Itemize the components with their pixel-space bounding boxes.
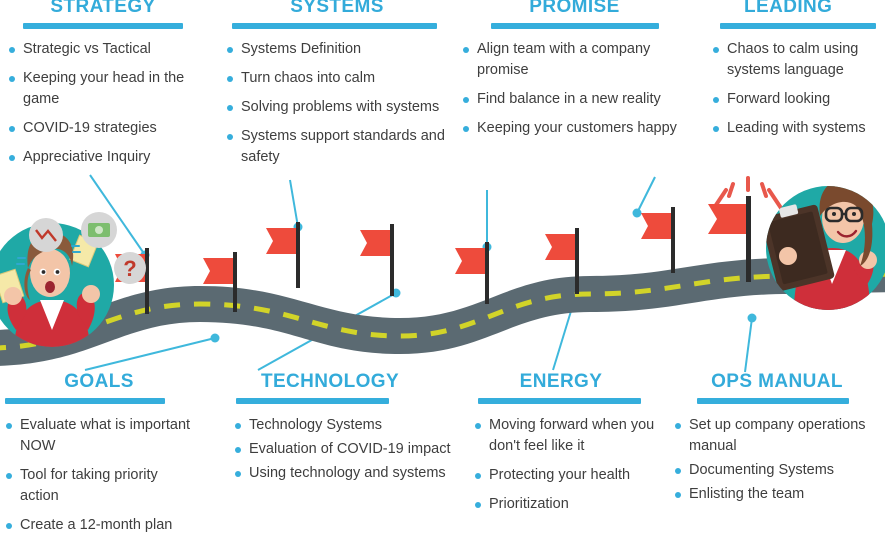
list-item: Evaluate what is important NOW xyxy=(5,415,193,457)
thought-bubble-question: ? xyxy=(114,252,146,284)
flag-3 xyxy=(266,222,300,288)
connector-technology xyxy=(258,293,396,370)
list-item: Set up company operations manual xyxy=(674,415,885,457)
column-strategy-title: STRATEGY xyxy=(8,0,198,18)
connector-dot-systems xyxy=(294,223,303,232)
infographic-canvas: ? xyxy=(0,0,885,555)
list-item: Create a 12-month plan xyxy=(5,515,193,536)
flag-8-finish xyxy=(708,196,751,282)
column-leading-title: LEADING xyxy=(712,0,885,18)
connector-dot-strategy xyxy=(141,251,150,260)
connector-dot-goals xyxy=(211,334,220,343)
list-item: Strategic vs Tactical xyxy=(8,39,198,60)
column-strategy: STRATEGY Strategic vs Tactical Keeping y… xyxy=(8,0,198,176)
connector-dot-energy xyxy=(571,294,580,303)
column-strategy-bullets: Strategic vs Tactical Keeping your head … xyxy=(8,39,198,168)
column-energy-title: ENERGY xyxy=(466,371,656,393)
list-item: Turn chaos into calm xyxy=(226,68,448,89)
connector-dot-promise xyxy=(483,243,492,252)
column-goals-rule xyxy=(5,398,165,404)
right-hand xyxy=(82,285,100,303)
connector-leading xyxy=(637,177,655,213)
clipboard xyxy=(759,199,835,292)
connector-dot-leading xyxy=(633,209,642,218)
svg-text:?: ? xyxy=(123,256,136,281)
column-technology-rule xyxy=(236,398,389,404)
winding-road xyxy=(0,256,885,366)
left-face xyxy=(30,249,70,297)
column-systems-title: SYSTEMS xyxy=(226,0,448,18)
connector-dot-technology xyxy=(392,289,401,298)
column-energy-bullets: Moving forward when you don't feel like … xyxy=(474,415,656,515)
celebration-burst xyxy=(714,178,781,208)
list-item: Protecting your health xyxy=(474,465,656,486)
list-item: Moving forward when you don't feel like … xyxy=(474,415,656,457)
column-goals-bullets: Evaluate what is important NOW Tool for … xyxy=(5,415,193,536)
list-item: Align team with a company promise xyxy=(462,39,687,81)
list-item: Keeping your head in the game xyxy=(8,68,198,110)
list-item: Leading with systems xyxy=(712,118,885,139)
connector-dots-bottom xyxy=(211,289,757,343)
right-hair xyxy=(819,179,873,266)
glasses xyxy=(826,208,862,221)
column-technology: TECHNOLOGY Technology Systems Evaluation… xyxy=(222,371,462,487)
column-ops-manual-title: OPS MANUAL xyxy=(668,371,885,393)
column-promise-rule xyxy=(491,23,659,29)
list-item: Tool for taking priority action xyxy=(5,465,193,507)
list-item: Documenting Systems xyxy=(674,460,885,481)
right-face xyxy=(822,193,864,243)
column-systems-rule xyxy=(232,23,437,29)
connector-lines-bottom xyxy=(85,293,752,372)
right-blazer xyxy=(794,248,870,312)
flag-1 xyxy=(115,248,149,314)
left-hand xyxy=(4,287,22,305)
column-ops-manual: OPS MANUAL Set up company operations man… xyxy=(668,371,885,508)
list-item: Systems support standards and safety xyxy=(226,126,448,168)
left-character-circle xyxy=(0,223,114,347)
column-ops-manual-bullets: Set up company operations manual Documen… xyxy=(674,415,885,505)
confident-businesswoman-with-clipboard xyxy=(759,179,885,320)
thought-bubble-chart xyxy=(29,218,63,252)
column-energy: ENERGY Moving forward when you don't fee… xyxy=(466,371,656,523)
flag-6 xyxy=(545,228,579,294)
column-leading-rule xyxy=(720,23,876,29)
list-item: Forward looking xyxy=(712,89,885,110)
column-leading: LEADING Chaos to calm using systems lang… xyxy=(712,0,885,147)
right-character-circle xyxy=(766,186,885,310)
column-technology-bullets: Technology Systems Evaluation of COVID-1… xyxy=(234,415,462,484)
column-systems-bullets: Systems Definition Turn chaos into calm … xyxy=(226,39,448,168)
flag-5 xyxy=(455,242,489,304)
flag-4 xyxy=(360,224,394,296)
list-item: Enlisting the team xyxy=(674,484,885,505)
connector-energy xyxy=(553,298,575,370)
column-energy-rule xyxy=(478,398,641,404)
milestone-flags xyxy=(115,196,751,314)
column-goals: GOALS Evaluate what is important NOW Too… xyxy=(5,371,193,544)
flag-7 xyxy=(641,207,675,273)
column-strategy-rule xyxy=(23,23,183,29)
flag-2 xyxy=(203,252,237,312)
list-item: Using technology and systems xyxy=(234,463,462,484)
right-hand-left xyxy=(779,247,797,265)
list-item: Evaluation of COVID-19 impact xyxy=(234,439,462,460)
list-item: COVID-19 strategies xyxy=(8,118,198,139)
list-item: Technology Systems xyxy=(234,415,462,436)
column-promise-title: PROMISE xyxy=(462,0,687,18)
list-item: Find balance in a new reality xyxy=(462,89,687,110)
connector-dots-top xyxy=(141,209,642,260)
column-technology-title: TECHNOLOGY xyxy=(222,371,462,393)
connector-lines-top xyxy=(90,175,655,255)
list-item: Appreciative Inquiry xyxy=(8,147,198,168)
connector-goals xyxy=(85,338,215,370)
list-item: Solving problems with systems xyxy=(226,97,448,118)
right-skirt xyxy=(794,300,862,320)
right-smile xyxy=(838,231,856,236)
list-item: Systems Definition xyxy=(226,39,448,60)
right-hand-right xyxy=(859,251,877,269)
connector-ops-manual xyxy=(745,318,752,372)
column-systems: SYSTEMS Systems Definition Turn chaos in… xyxy=(226,0,448,176)
column-goals-title: GOALS xyxy=(5,371,193,393)
column-promise-bullets: Align team with a company promise Find b… xyxy=(462,39,687,139)
flying-papers xyxy=(0,235,98,303)
connector-systems xyxy=(290,180,298,227)
left-open-mouth xyxy=(45,281,55,293)
list-item: Keeping your customers happy xyxy=(462,118,687,139)
stressed-businesswoman: ? xyxy=(0,212,146,352)
column-leading-bullets: Chaos to calm using systems language For… xyxy=(712,39,885,139)
road-centre-dashes xyxy=(0,274,885,348)
column-ops-manual-rule xyxy=(697,398,849,404)
connector-strategy xyxy=(90,175,145,255)
connector-dot-ops-manual xyxy=(748,314,757,323)
left-blazer xyxy=(14,300,90,352)
left-hair xyxy=(27,232,73,268)
list-item: Prioritization xyxy=(474,494,656,515)
thought-bubble-money xyxy=(81,212,117,248)
list-item: Chaos to calm using systems language xyxy=(712,39,885,81)
column-promise: PROMISE Align team with a company promis… xyxy=(462,0,687,147)
right-collar xyxy=(820,250,846,284)
left-collar xyxy=(40,300,64,330)
